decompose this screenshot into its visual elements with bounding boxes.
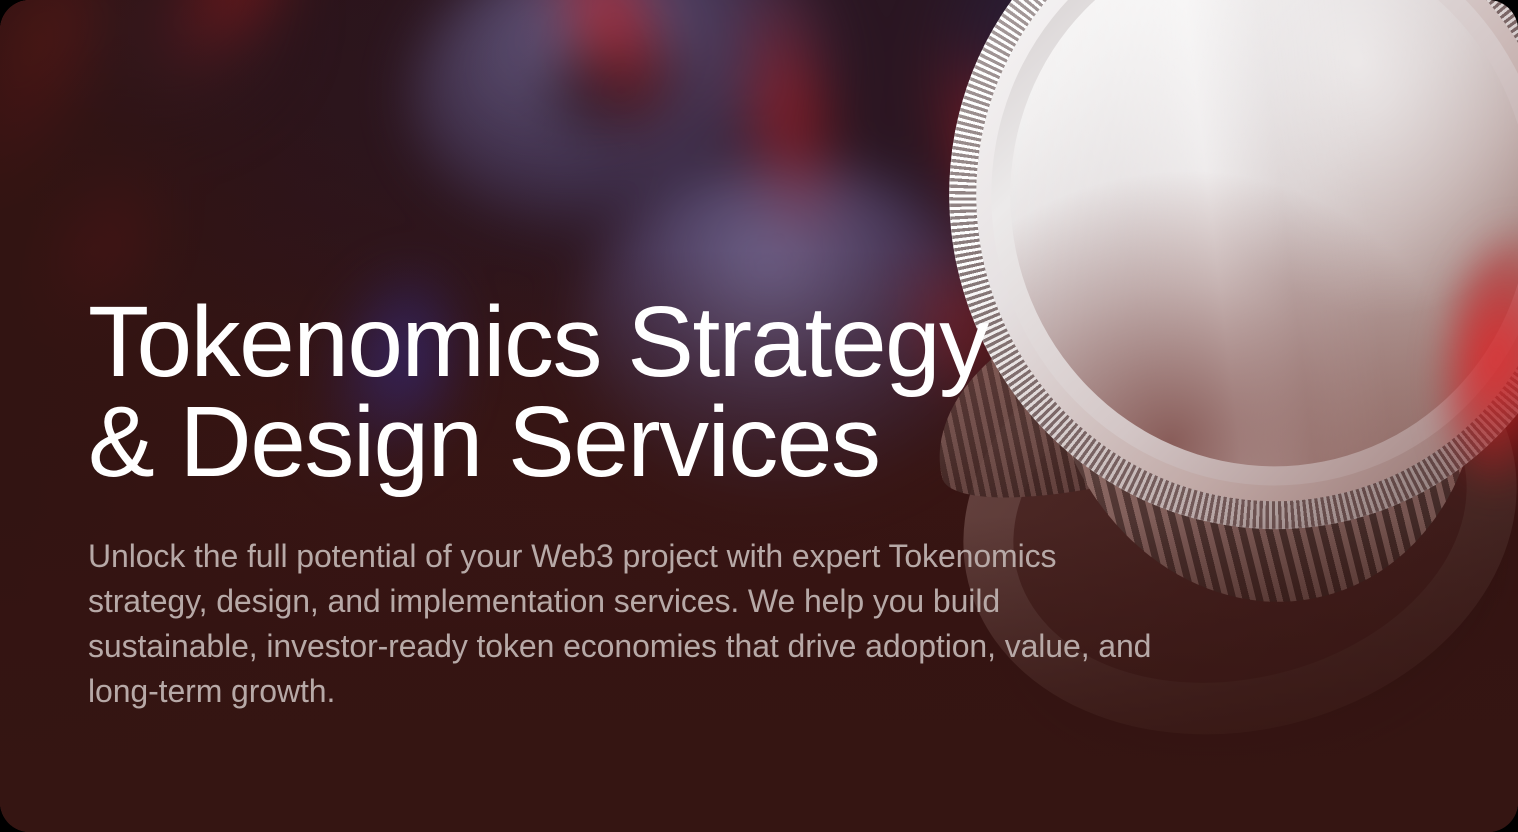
page-title: Tokenomics Strategy & Design Services [88,292,1178,492]
hero-subtitle: Unlock the full potential of your Web3 p… [88,534,1163,714]
hero-content: Tokenomics Strategy & Design Services Un… [88,292,1178,714]
hero-banner: Tokenomics Strategy & Design Services Un… [0,0,1518,832]
